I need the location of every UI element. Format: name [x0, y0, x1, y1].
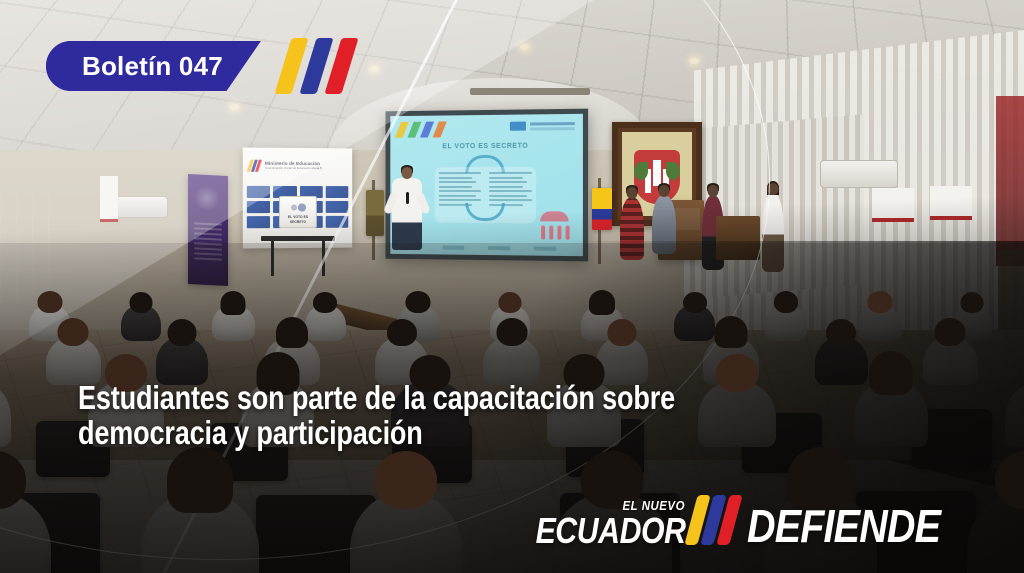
ministerio-banner: Ministerio de Educación Coordinación Zon… [243, 148, 352, 249]
head [375, 451, 437, 509]
page-title: Estudiantes son parte de la capacitación… [78, 380, 734, 451]
head [768, 183, 779, 195]
air-conditioner-icon [820, 160, 898, 188]
head [168, 319, 197, 346]
bulletin-badge-label: Boletín 047 [82, 53, 223, 79]
laurel-leaf-icon [666, 162, 680, 180]
boletin-graphic: EL VOTO ES SECRETO [0, 0, 1024, 573]
municipal-flag [366, 190, 384, 236]
head [961, 292, 984, 313]
slide-people-icon [538, 211, 573, 240]
head [869, 351, 913, 395]
slide-title: EL VOTO ES SECRETO [390, 142, 583, 150]
ecuador-flag [592, 188, 612, 230]
ecuador-flag-stripes-icon [283, 38, 375, 94]
head [406, 291, 431, 313]
head [130, 292, 153, 313]
head [167, 447, 233, 513]
head [867, 291, 892, 313]
head [496, 318, 527, 346]
wall-poster [100, 176, 118, 222]
head [387, 319, 417, 346]
brand-flag-stripes-icon [691, 495, 745, 545]
wall-poster [930, 186, 972, 220]
head [58, 318, 89, 346]
slide-logo [510, 120, 577, 132]
projector-screen-mount [470, 88, 590, 95]
ministerio-header: Ministerio de Educación Coordinación Zon… [249, 160, 322, 172]
brand-word-ecuador: ECUADOR [535, 514, 685, 547]
head [499, 292, 522, 313]
downlight-icon [230, 104, 239, 110]
slide-stripes [398, 121, 458, 137]
ministerio-subtitle-text: Coordinación Zonal de Educación Zona 5 [265, 167, 322, 171]
head [935, 318, 966, 346]
laurel-leaf-icon [634, 162, 648, 180]
head [715, 316, 748, 348]
head [607, 319, 636, 346]
head [683, 292, 707, 313]
head [826, 319, 856, 346]
head [589, 290, 615, 315]
head [627, 187, 638, 199]
ballot-box-label-line2: SECRETO [290, 220, 306, 224]
head [37, 291, 62, 313]
head [659, 185, 670, 197]
speaker-person [392, 178, 422, 250]
ecuador-flag-icon [249, 160, 262, 172]
head [774, 291, 798, 313]
downlight-icon [690, 58, 699, 64]
bulletin-badge: Boletín 047 [46, 41, 261, 91]
wall-poster [872, 188, 914, 222]
head [221, 291, 246, 315]
brand-word-defiende: DEFIENDE [747, 506, 940, 547]
head [276, 317, 308, 348]
brand-logo-left: EL NUEVO ECUADOR [507, 498, 686, 547]
head [402, 167, 413, 179]
head [708, 185, 719, 197]
ministerio-title: Ministerio de Educación Coordinación Zon… [265, 161, 322, 171]
wall-banner [996, 96, 1024, 266]
microphone-icon [406, 192, 409, 204]
brand-logo: EL NUEVO ECUADOR DEFIENDE [507, 485, 972, 547]
ballot-box: EL VOTO ES SECRETO [279, 196, 317, 228]
head [313, 292, 337, 313]
air-conditioner-icon [110, 196, 168, 218]
downlight-icon [520, 44, 529, 50]
